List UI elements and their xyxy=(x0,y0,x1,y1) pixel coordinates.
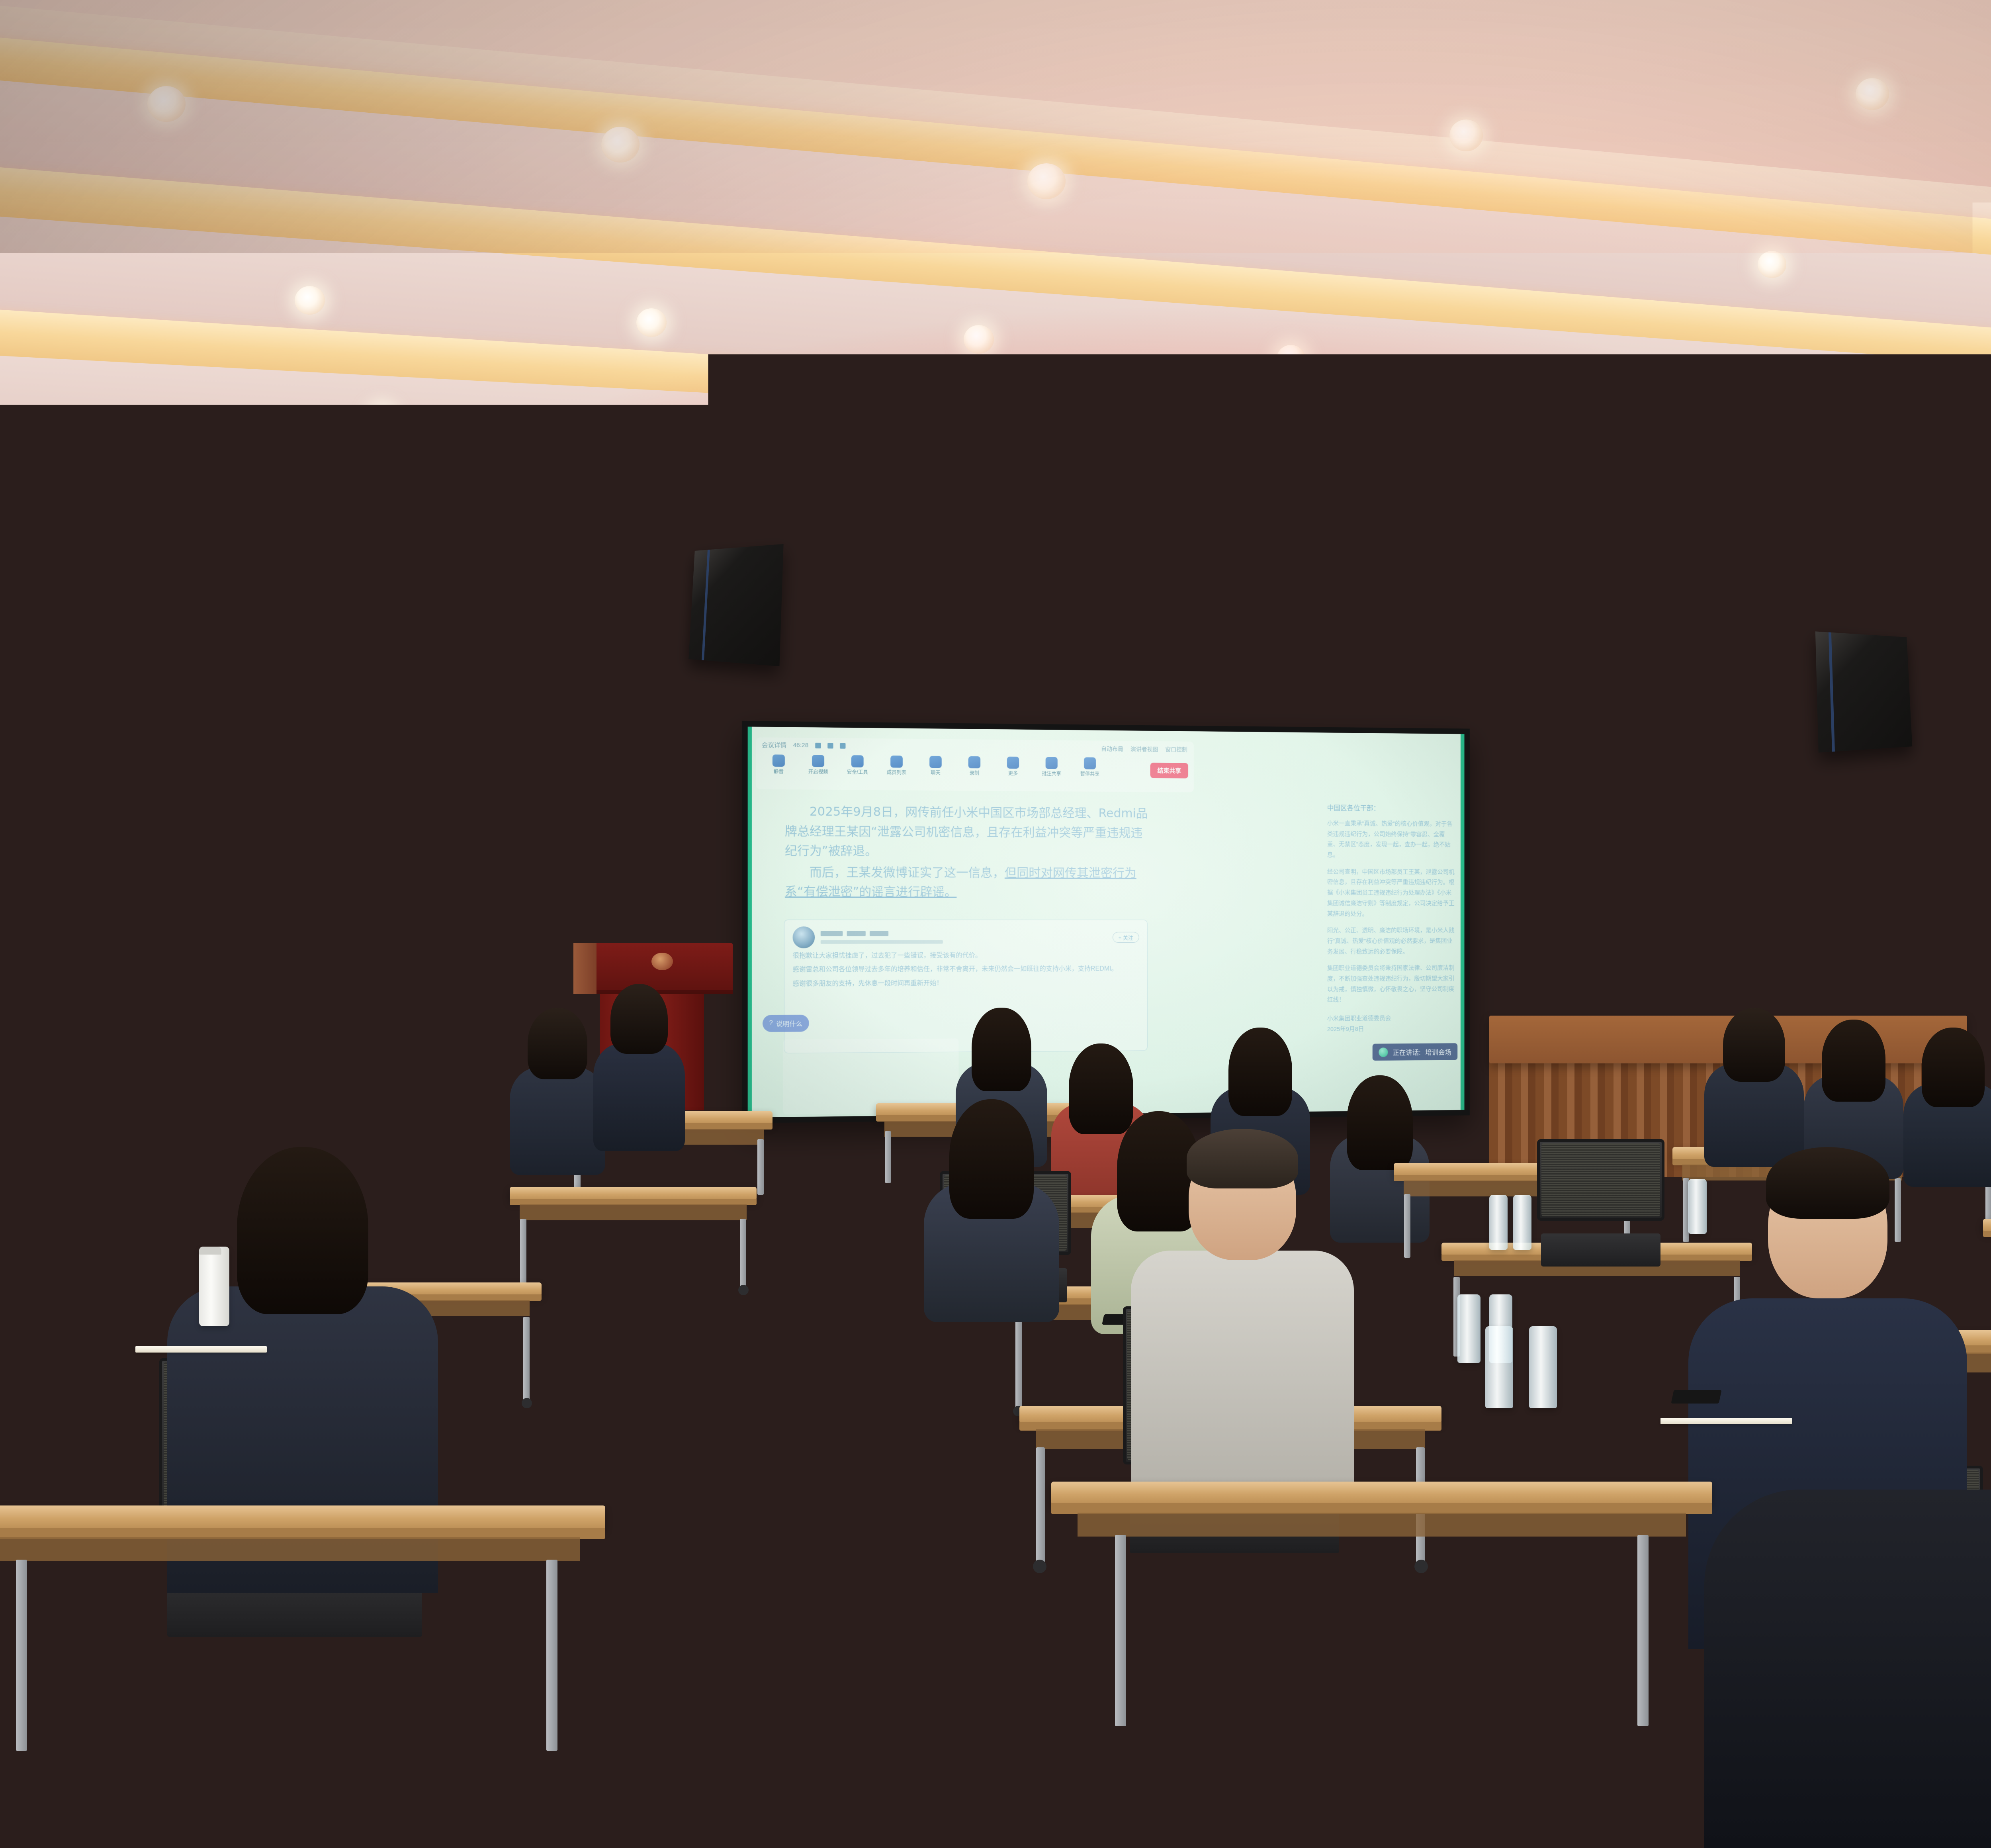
ac-control-panel[interactable] xyxy=(16,1010,76,1043)
stats-icon[interactable] xyxy=(840,743,845,748)
announcement-para-4: 集团职业道德委员会将秉持国家法律、公司廉洁制度，不断加强查处违规违纪行为，殷切期… xyxy=(1327,963,1455,1005)
weibo-body-line-3: 感谢很多朋友的支持，先休息一段时间再重新开始！ xyxy=(793,977,1139,990)
ceiling-downlight xyxy=(1856,78,1889,110)
speaking-prefix: 正在讲话: xyxy=(1393,1047,1420,1057)
signal-icon xyxy=(815,742,821,748)
table-row xyxy=(510,1187,757,1243)
table-row xyxy=(0,1505,605,1609)
weibo-post-header: + 关注 xyxy=(793,926,1139,948)
led-banner-text: 北京建机院2025年法律合规专题培训 xyxy=(758,572,1631,660)
pause-icon xyxy=(1084,757,1096,769)
projector-mount-pole xyxy=(1326,374,1338,534)
chat-button[interactable]: 聊天 xyxy=(921,756,951,776)
attendee xyxy=(1704,1490,1991,1848)
security-button-label: 安全/工具 xyxy=(847,769,868,775)
record-button[interactable]: 录制 xyxy=(959,756,989,776)
ceiling-downlight xyxy=(147,86,186,122)
attendee xyxy=(1131,1119,1354,1501)
microphone-icon xyxy=(773,754,785,767)
window-control-label[interactable]: 窗口控制 xyxy=(1165,745,1187,753)
slide-question-badge-label: 说明什么 xyxy=(776,1018,802,1028)
announcement-title: 中国区各位干部： xyxy=(1327,803,1455,813)
mute-button-label: 静音 xyxy=(774,769,784,774)
security-button[interactable]: 安全/工具 xyxy=(842,755,872,775)
table-row xyxy=(1983,1219,1991,1278)
slide-paragraph-2: 而后，王某发微博证实了这一信息，但同时对网传其泄密行为系“有偿泄密”的谣言进行辟… xyxy=(785,863,1148,902)
weibo-follow-button[interactable]: + 关注 xyxy=(1113,932,1139,942)
attendee-hair xyxy=(281,1036,348,1127)
annotate-button-label: 批注共享 xyxy=(1042,771,1061,777)
weibo-body-line-2: 感谢雷总和公司各位领导过去多年的培养和信任，非常不舍离开，未来仍然会一如既往的支… xyxy=(793,963,1139,976)
weibo-body-line-1: 很抱歉让大家担忧挂虑了，过去犯了一些错误，接受该有的代价。 xyxy=(793,949,1139,962)
video-button-label: 开启视频 xyxy=(808,769,828,775)
attendee-hair xyxy=(1766,1147,1889,1219)
attendee-hair xyxy=(1723,1008,1785,1082)
notebook[interactable] xyxy=(135,1346,267,1353)
attendee xyxy=(510,1008,605,1175)
camera-icon xyxy=(812,755,824,767)
layout-select[interactable]: 自动布局 xyxy=(1101,745,1123,753)
pause-share-button-label: 暂停共享 xyxy=(1080,771,1099,777)
meeting-view-controls[interactable]: 自动布局 演讲者视图 窗口控制 xyxy=(1101,745,1187,754)
more-button[interactable]: 更多 xyxy=(998,756,1028,776)
avatar xyxy=(793,926,815,948)
announcement-date: 2025年9月8日 xyxy=(1327,1023,1455,1034)
wall-notice-board xyxy=(1883,872,1939,919)
announcement-signature: 小米集团职业道德委员会 xyxy=(1327,1013,1455,1024)
attendee-hair xyxy=(1347,1075,1413,1170)
ac-grille xyxy=(1,879,91,970)
water-bottle[interactable] xyxy=(94,1375,123,1459)
air-conditioner-left xyxy=(0,864,100,1167)
speaking-name: 培训会场 xyxy=(1425,1047,1451,1057)
right-wall-upper xyxy=(1792,470,1991,581)
annotate-button[interactable]: 批注共享 xyxy=(1037,757,1066,777)
pen-icon xyxy=(1046,757,1058,769)
attendee-hair xyxy=(949,1099,1034,1219)
participants-button-label: 成员列表 xyxy=(887,769,906,775)
record-button-label: 录制 xyxy=(970,770,979,776)
shield-icon xyxy=(851,755,864,767)
attendee-torso xyxy=(1704,1490,1991,1848)
chat-icon xyxy=(929,756,942,768)
speaking-avatar-icon xyxy=(1379,1047,1388,1057)
video-button[interactable]: 开启视频 xyxy=(803,755,833,775)
emergency-light xyxy=(1868,820,1907,839)
end-share-button[interactable]: 结束共享 xyxy=(1150,763,1188,779)
attendee-hair xyxy=(1822,1020,1885,1102)
projector xyxy=(1274,526,1390,574)
training-room-photo: 北京建机院2025年法律合规专题培训 会议详情 46:28 xyxy=(0,0,1991,1848)
pause-share-button[interactable]: 暂停共享 xyxy=(1075,757,1105,777)
attendee-torso xyxy=(593,1043,685,1151)
glasses-icon xyxy=(1654,947,1696,957)
chair[interactable] xyxy=(1266,1597,1657,1848)
slide-left-column: 2025年9月8日，网传前任小米中国区市场部总经理、Redmi品牌总经理王某因“… xyxy=(785,802,1148,902)
attendee-hair xyxy=(237,1147,368,1314)
emergency-light-head xyxy=(1888,811,1902,822)
speaker-view-select[interactable]: 演讲者视图 xyxy=(1130,745,1158,753)
water-bottle[interactable] xyxy=(52,1375,80,1459)
ceiling-downlight xyxy=(601,127,640,162)
water-bottle[interactable] xyxy=(1457,1294,1481,1363)
projector-lens xyxy=(1294,570,1370,585)
ceiling-downlight xyxy=(1449,119,1483,151)
attendee-torso xyxy=(1131,1251,1354,1501)
attendee xyxy=(924,1099,1059,1322)
thermos-tumbler[interactable] xyxy=(199,1247,229,1326)
attendee-torso xyxy=(510,1067,605,1175)
slide-right-column: 中国区各位干部： 小米一直秉承“真诚、热爱”的核心价值观，对于各类违规违纪行为，… xyxy=(1327,803,1455,1035)
attendee xyxy=(593,984,685,1151)
announcement-signature-block: 小米集团职业道德委员会 2025年9月8日 xyxy=(1327,1013,1455,1035)
people-icon xyxy=(890,756,903,768)
attendee-hair xyxy=(528,1008,587,1079)
water-bottle[interactable] xyxy=(1489,1195,1508,1250)
question-icon: ? xyxy=(769,1020,773,1027)
attendee-hair xyxy=(1187,1129,1298,1188)
attendee-hair xyxy=(1228,1028,1292,1116)
link-icon[interactable] xyxy=(827,743,833,748)
ceiling-downlight xyxy=(1758,251,1786,278)
chat-button-label: 聊天 xyxy=(931,770,940,775)
attendee-hair xyxy=(415,1020,485,1115)
meeting-toolbar[interactable]: 会议详情 46:28 自动布局 演讲者视图 窗口控制 静音 开启视频 安全/工具… xyxy=(756,737,1193,792)
lectern-emblem xyxy=(651,953,673,970)
emergency-light-head xyxy=(1871,811,1884,822)
water-bottle[interactable] xyxy=(1529,1326,1557,1408)
led-banner: 北京建机院2025年法律合规专题培训 xyxy=(692,559,1697,672)
ceiling-downlight xyxy=(1027,163,1066,199)
exit-sign-text: 安全出口 xyxy=(1922,830,1965,845)
meeting-detail-label[interactable]: 会议详情 xyxy=(762,741,786,750)
table-row xyxy=(1051,1482,1712,1585)
notebook[interactable] xyxy=(1660,1418,1792,1424)
slide-paragraph-1: 2025年9月8日，网传前任小米中国区市场部总经理、Redmi品牌总经理王某因“… xyxy=(785,802,1148,862)
mute-button[interactable]: 静音 xyxy=(763,754,794,775)
slide-paragraph-2-plain: 而后，王某发微博证实了这一信息， xyxy=(810,865,1005,880)
more-button-label: 更多 xyxy=(1008,771,1018,776)
hanging-speaker-left xyxy=(688,544,783,666)
slide-question-badge: ? 说明什么 xyxy=(763,1015,809,1032)
announcement-para-3: 阳光、公正、透明、廉洁的职场环境，是小米人践行“真诚、热爱”核心价值观的必然要求… xyxy=(1327,926,1455,957)
attendee-hair xyxy=(610,984,668,1054)
exit-sign: 安全出口 xyxy=(1911,825,1975,850)
water-bottle[interactable] xyxy=(1485,1326,1513,1408)
hanging-speaker-right xyxy=(1815,631,1912,752)
announcement-para-1: 小米一直秉承“真诚、热爱”的核心价值观，对于各类违规违纪行为，公司始终保持“零容… xyxy=(1327,818,1455,861)
announcement-para-2: 经公司查明，中国区市场部员工王某，泄露公司机密信息，且存在利益冲突等严重违规违纪… xyxy=(1327,867,1455,919)
ellipsis-icon xyxy=(1007,757,1019,769)
meeting-meta: 会议详情 46:28 xyxy=(762,741,845,750)
speaking-indicator: 正在讲话: 培训会场 xyxy=(1373,1043,1457,1061)
meeting-timer: 46:28 xyxy=(793,742,809,749)
phone[interactable] xyxy=(1671,1390,1721,1404)
ceiling-downlight xyxy=(295,286,325,315)
attendee-hair xyxy=(972,1008,1031,1091)
record-icon xyxy=(968,756,980,768)
attendee-hair xyxy=(1922,1028,1985,1107)
meeting-action-row[interactable]: 静音 开启视频 安全/工具 成员列表 聊天 录制 更多 批注共享 暂停共享 xyxy=(763,754,1105,777)
water-bottle[interactable] xyxy=(1513,1195,1531,1250)
chair[interactable] xyxy=(1537,1139,1664,1267)
participants-button[interactable]: 成员列表 xyxy=(882,756,912,776)
